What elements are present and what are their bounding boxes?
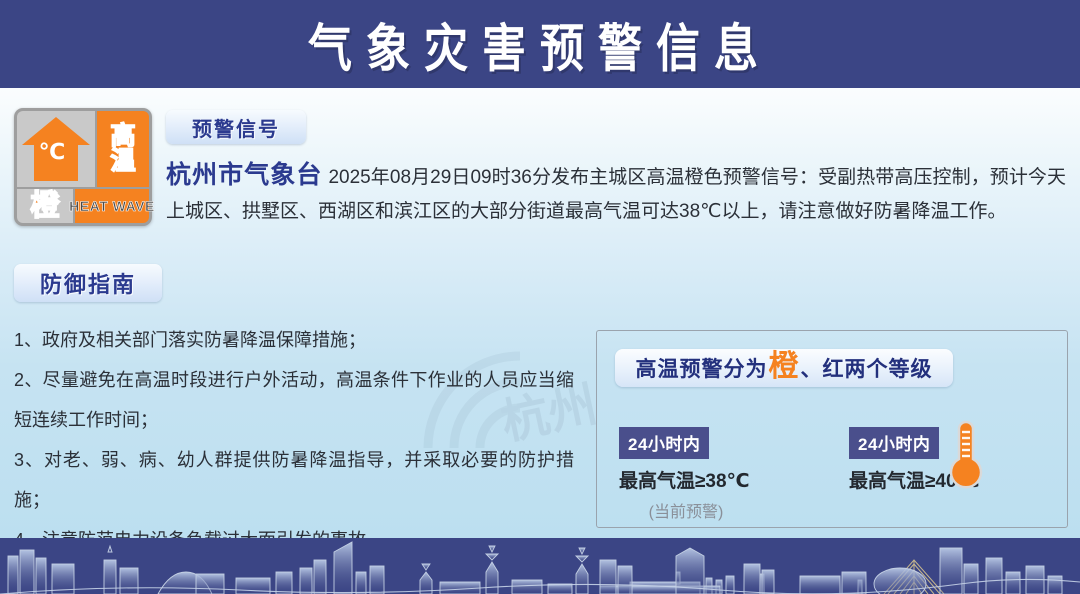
signal-section-badge: 预警信号 xyxy=(166,110,306,144)
guide-section-badge: 防御指南 xyxy=(14,264,162,302)
guide-badge-label: 防御指南 xyxy=(40,267,136,299)
guideline-item: 1、政府及相关部门落实防暑降温保障措施； xyxy=(14,320,574,360)
house-thermometer-icon: ℃ xyxy=(17,111,95,187)
level-orange: 24小时内 最高气温≥38℃ (当前预警) xyxy=(619,427,753,522)
warning-type-char-2: 温 xyxy=(110,149,135,174)
announcement-paragraph: 杭州市气象台2025年08月29日09时36分发布主城区高温橙色预警信号：受副热… xyxy=(166,158,1066,229)
degree-symbol: ℃ xyxy=(17,139,87,165)
duration-badge: 24小时内 xyxy=(849,427,939,459)
warning-type-char-1: 高 xyxy=(110,124,135,149)
levels-heading-highlight: 橙 xyxy=(769,355,800,379)
levels-heading-prefix: 高温预警分为 xyxy=(636,353,768,383)
warning-type-label: 高 温 xyxy=(97,111,149,187)
header-banner: 气象灾害预警信息 xyxy=(0,0,1080,88)
signal-badge-label: 预警信号 xyxy=(192,113,280,142)
announcement-block: 杭州市气象台2025年08月29日09时36分发布主城区高温橙色预警信号：受副热… xyxy=(166,158,1066,229)
current-warning-note: (当前预警) xyxy=(619,498,753,522)
guideline-item: 2、尽量避免在高温时段进行户外活动，高温条件下作业的人员应当缩短连续工作时间； xyxy=(14,360,574,440)
warning-signal-icon: ℃ 高 温 橙 HEAT WAVE xyxy=(14,108,152,226)
issuing-organization: 杭州市气象台 xyxy=(166,161,322,189)
duration-badge: 24小时内 xyxy=(619,427,709,459)
level-temperature: 最高气温≥38℃ xyxy=(619,466,753,493)
warning-english-label: HEAT WAVE xyxy=(75,189,149,223)
city-skyline-footer xyxy=(0,538,1080,594)
guidelines-list: 1、政府及相关部门落实防暑降温保障措施； 2、尽量避免在高温时段进行户外活动，高… xyxy=(14,320,574,560)
page-title: 气象灾害预警信息 xyxy=(308,6,772,82)
warning-level-char: 橙 xyxy=(17,189,73,223)
thermometer-orange-icon xyxy=(943,419,989,500)
levels-heading-suffix: 、红两个等级 xyxy=(801,353,933,383)
warning-levels-panel: 高温预警分为橙、红两个等级 24小时内 最高气温≥38℃ (当前预警) 24小时… xyxy=(596,330,1068,528)
levels-heading-badge: 高温预警分为橙、红两个等级 xyxy=(615,349,953,387)
skyline-silhouette-icon xyxy=(0,538,1080,594)
guideline-item: 3、对老、弱、病、幼人群提供防暑降温指导，并采取必要的防护措施； xyxy=(14,440,574,520)
weather-warning-infographic: 气象灾害预警信息 杭州 ℃ 高 温 xyxy=(0,0,1080,594)
